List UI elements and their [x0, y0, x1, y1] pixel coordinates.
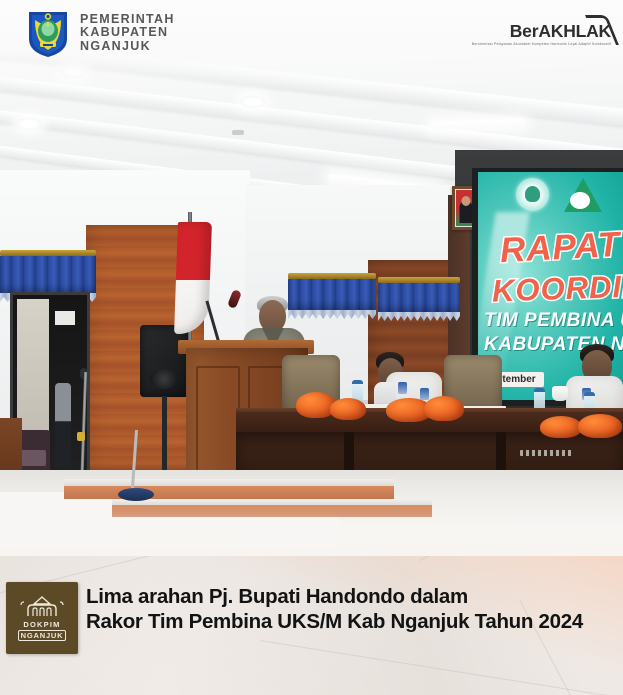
government-branding: PEMERINTAH KABUPATEN NGANJUK [26, 8, 175, 58]
slide-title-line1: RAPAT [499, 225, 621, 271]
uniform-insignia-icon [398, 382, 407, 394]
dokpim-badge-line2: NGANJUK [18, 630, 67, 641]
uks-logo-inner [570, 192, 590, 209]
government-label-line1: PEMERINTAH [80, 13, 175, 27]
person-in-doorway [55, 383, 71, 467]
berakhlak-prefix: Ber [510, 21, 539, 41]
dokpim-badge-line1: DOKPIM [23, 620, 60, 629]
caption-line-1: Lima arahan Pj. Bupati Handondo dalam [86, 584, 616, 609]
caption-line-2: Rakor Tim Pembina UKS/M Kab Nganjuk Tahu… [86, 609, 616, 634]
portrait-face [461, 196, 470, 206]
coffee-cup [552, 386, 568, 401]
event-photograph: RAPAT KOORDINASI TIM PEMBINA UKS/M KABUP… [0, 0, 623, 556]
window-valance [0, 255, 96, 295]
ceiling-downlight-icon [240, 96, 266, 108]
floor-step [64, 486, 394, 499]
dokpim-nganjuk-badge: DOKPIM NGANJUK [6, 582, 78, 654]
floor-step [64, 479, 394, 486]
ceiling-downlight-icon [16, 118, 42, 130]
floor-step [112, 499, 432, 505]
table-nameplate [520, 450, 574, 456]
microphone-stand-clamp [77, 432, 85, 441]
berakhlak-tagline: Berorientasi Pelayanan Akuntabel Kompete… [472, 42, 611, 47]
government-label-line3: NGANJUK [80, 40, 175, 54]
pa-speaker-stand [162, 396, 167, 478]
mop-head-icon [118, 488, 154, 501]
orange-cap [540, 416, 582, 438]
caption-headline: Lima arahan Pj. Bupati Handondo dalam Ra… [86, 584, 616, 634]
door-notice-sign [55, 311, 75, 325]
window-valance [378, 282, 460, 314]
ceiling-vent-icon [232, 130, 244, 135]
orange-cap [578, 414, 622, 438]
slide-title-line2: KOORDINASI [491, 266, 623, 309]
pa-speaker-icon [140, 325, 189, 397]
orange-cap [330, 398, 366, 420]
window-valance [288, 278, 376, 312]
nganjuk-regency-emblem-icon [26, 8, 70, 58]
caption-area: DOKPIM NGANJUK Lima arahan Pj. Bupati Ha… [0, 556, 623, 695]
government-label: PEMERINTAH KABUPATEN NGANJUK [80, 13, 175, 54]
government-label-line2: KABUPATEN [80, 26, 175, 40]
slide-subtitle-line1: TIM PEMBINA UKS/M [484, 310, 623, 332]
dokpim-arch-icon [20, 596, 64, 618]
social-media-photo-card: RAPAT KOORDINASI TIM PEMBINA UKS/M KABUP… [0, 0, 623, 695]
nganjuk-regency-emblem-icon [516, 178, 549, 211]
orange-cap [424, 396, 464, 421]
berakhlak-branding: BerAKHLAK Berorientasi Pelayanan Akuntab… [472, 22, 611, 47]
berakhlak-wordmark: BerAKHLAK [472, 22, 611, 40]
floor-step [112, 505, 432, 517]
uniform-insignia-icon [420, 388, 429, 400]
